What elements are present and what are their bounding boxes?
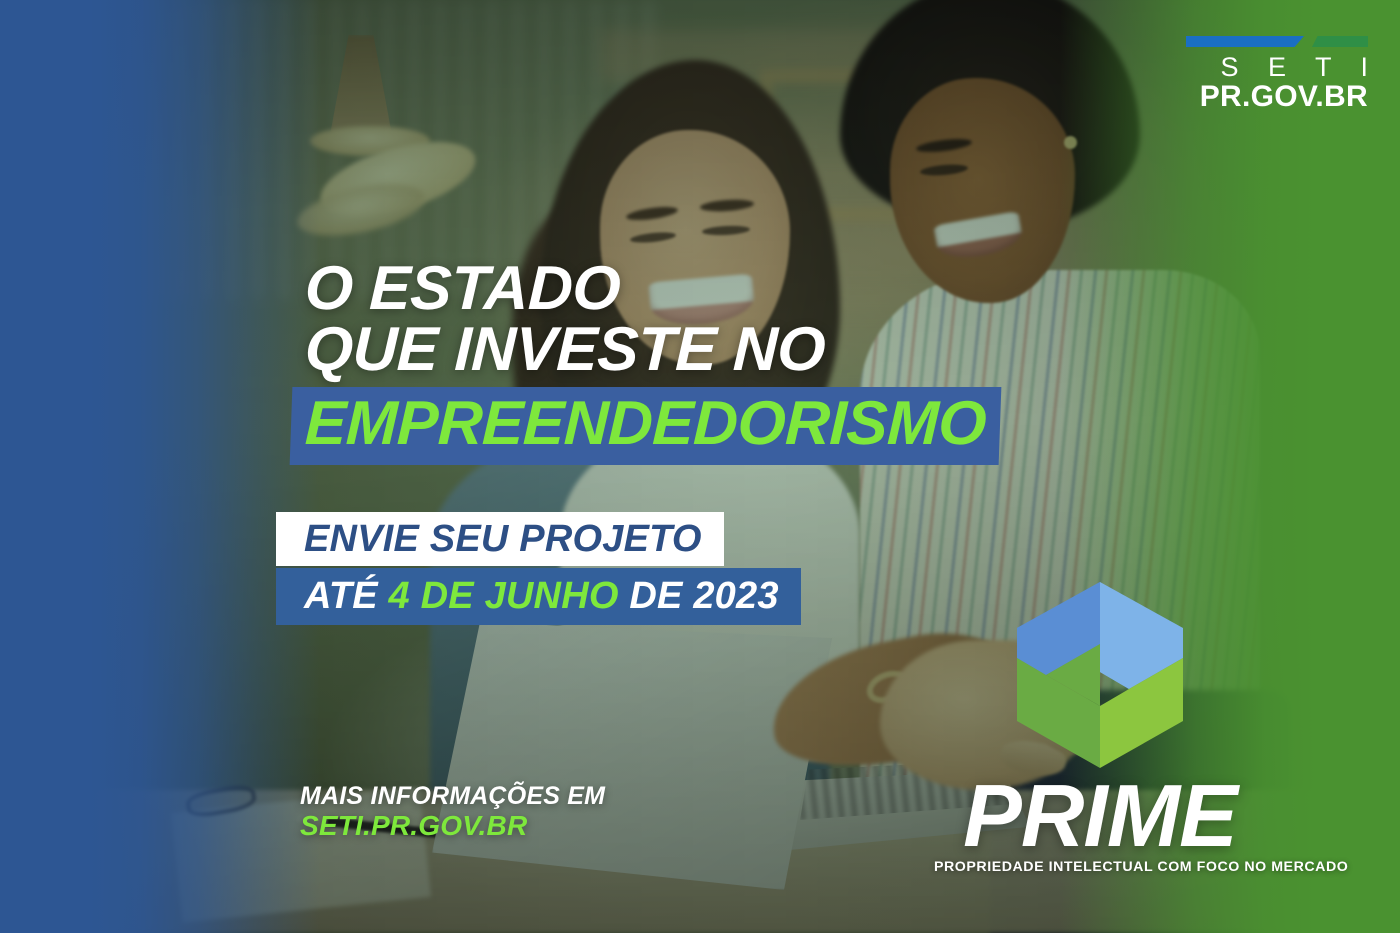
seti-url: PR.GOV.BR [1172, 82, 1368, 112]
prime-cube-icon [1005, 578, 1195, 773]
more-info-block: MAIS INFORMAÇÕES EM SETI.PR.GOV.BR [300, 782, 605, 841]
headline-line-1: O ESTADO [304, 258, 1001, 319]
cta-deadline: ATÉ 4 DE JUNHO DE 2023 [276, 568, 801, 625]
left-blue-gradient-panel [0, 0, 320, 933]
seti-logo-bars [1186, 36, 1368, 47]
seti-wordmark: S E T I [1172, 54, 1379, 81]
headline-line-2: QUE INVESTE NO [304, 319, 1001, 380]
headline-line-3: EMPREENDEDORISMO [290, 387, 1002, 465]
cta-send-project: ENVIE SEU PROJETO [276, 512, 724, 566]
prime-wordmark: PRIME [934, 777, 1266, 854]
promotional-poster: S E T I PR.GOV.BR O ESTADO QUE INVESTE N… [0, 0, 1400, 933]
prime-tagline: PROPRIEDADE INTELECTUAL COM FOCO NO MERC… [934, 859, 1266, 875]
seti-logo[interactable]: S E T I PR.GOV.BR [1172, 36, 1368, 112]
more-info-url[interactable]: SETI.PR.GOV.BR [300, 810, 605, 841]
cta-deadline-date: 4 DE JUNHO [389, 575, 619, 617]
cta-deadline-suffix: DE 2023 [619, 575, 779, 617]
seti-blue-bar-icon [1186, 36, 1304, 47]
more-info-label: MAIS INFORMAÇÕES EM [300, 782, 605, 810]
headline-block: O ESTADO QUE INVESTE NO EMPREENDEDORISMO [305, 258, 1000, 465]
seti-green-bar-icon [1312, 36, 1368, 47]
cta-block: ENVIE SEU PROJETO ATÉ 4 DE JUNHO DE 2023 [276, 512, 801, 625]
cta-deadline-prefix: ATÉ [304, 575, 389, 617]
prime-logo[interactable]: PRIME PROPRIEDADE INTELECTUAL COM FOCO N… [934, 578, 1266, 875]
